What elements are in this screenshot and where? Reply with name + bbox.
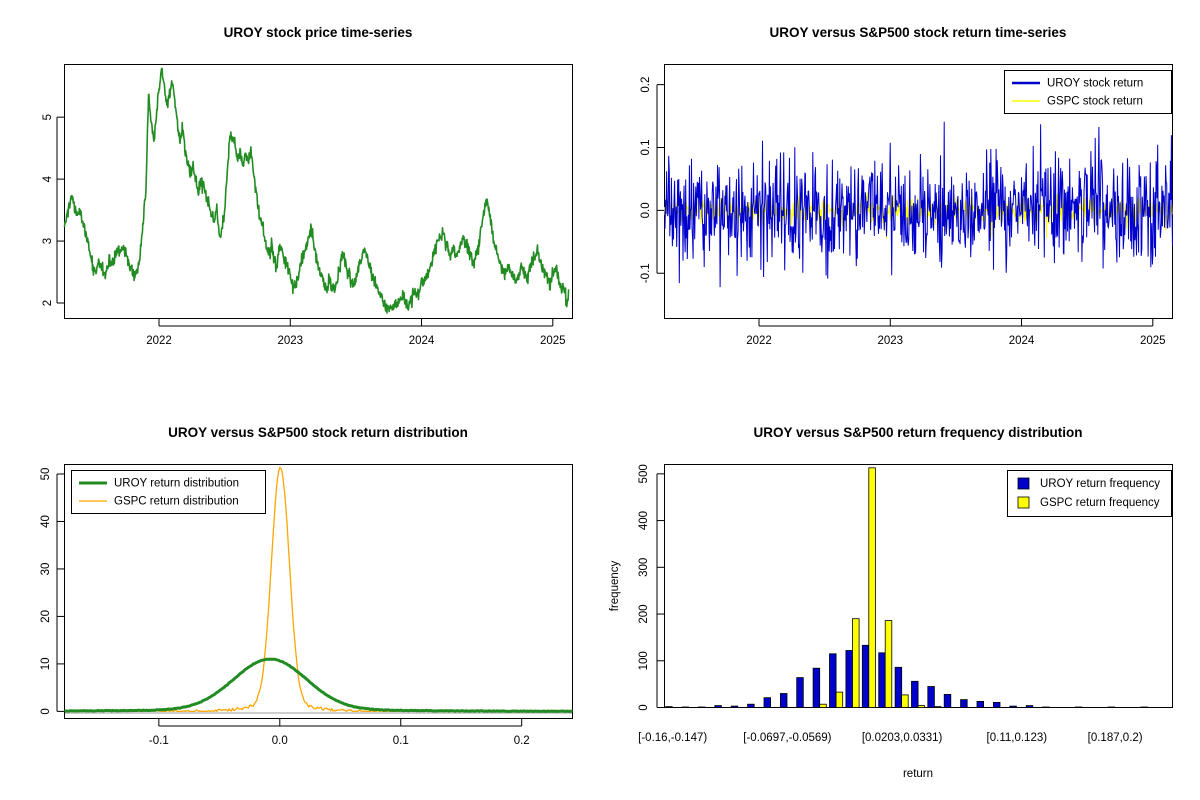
legend-label-gspc-return-distribution: GSPC return distribution: [114, 496, 239, 508]
uroy-density-series: [65, 659, 573, 711]
legend-swatch-gspc-return-frequency: [1018, 497, 1029, 508]
legend-label-gspc-return-frequency: GSPC return frequency: [1040, 497, 1160, 509]
histogram-bar: [682, 707, 689, 708]
x-tick-label: [-0.0697,-0.0569): [743, 732, 831, 744]
plot-area: [65, 65, 573, 319]
legend-label-uroy-return-distribution: UROY return distribution: [114, 478, 239, 490]
histogram-bar: [993, 702, 1000, 707]
legend: UROY return frequency GSPC return freque…: [1008, 471, 1172, 517]
y-tick-label: 0.0: [640, 202, 652, 218]
y-tick-label: -0.1: [640, 263, 652, 283]
x-tick-label: [0.0203,0.0331): [862, 732, 943, 744]
price-line-series: [65, 69, 569, 314]
histogram-bar: [944, 694, 951, 707]
x-tick-label: 0.0: [272, 735, 288, 747]
histogram-bar: [885, 621, 892, 708]
y-axis: 2345: [42, 114, 64, 306]
uroy-return-series: [665, 122, 1173, 287]
histogram-bar: [715, 706, 722, 708]
x-tick-label: 2023: [277, 335, 303, 347]
x-tick-label: 2025: [540, 335, 566, 347]
panel-return-density: UROY versus S&P500 stock return distribu…: [0, 400, 600, 800]
histogram-bar: [928, 687, 935, 708]
y-tick-label: 20: [40, 610, 52, 623]
histogram-bar: [977, 701, 984, 707]
histogram-bar: [1026, 706, 1033, 708]
histogram-bar: [666, 707, 673, 708]
return-timeseries-svg: UROY versus S&P500 stock return time-ser…: [600, 0, 1200, 400]
legend-label-uroy-return-frequency: UROY return frequency: [1040, 478, 1160, 490]
x-tick-label: 2025: [1140, 335, 1166, 347]
histogram-bar: [846, 651, 853, 708]
histogram-bar: [731, 706, 738, 707]
histogram-bar: [820, 704, 827, 707]
histogram-bar: [836, 692, 843, 707]
x-tick-label: [-0.16,-0.147): [638, 732, 707, 744]
histogram-bar: [1043, 707, 1050, 708]
legend-label-uroy-stock-return: UROY stock return: [1047, 78, 1143, 90]
panel-title: UROY versus S&P500 stock return time-ser…: [770, 25, 1067, 40]
histogram-bar: [698, 707, 705, 708]
price-timeseries-svg: UROY stock price time-series 2345 202220…: [0, 0, 600, 400]
histogram-bar: [912, 681, 919, 707]
y-tick-label: 100: [638, 651, 650, 670]
y-tick-label: 400: [638, 511, 650, 530]
x-tick-label: 2022: [146, 335, 172, 347]
panel-title: UROY stock price time-series: [224, 25, 413, 40]
y-axis: 01020304050: [40, 468, 64, 715]
histogram-bar: [902, 695, 909, 708]
histogram-bar: [853, 619, 860, 708]
histogram-bar: [895, 667, 902, 707]
x-tick-label: 2024: [409, 335, 435, 347]
y-tick-label: 40: [40, 515, 52, 528]
histogram-bar: [1108, 707, 1115, 708]
legend-swatch-uroy-return-frequency: [1018, 478, 1029, 489]
x-tick-label: 2022: [746, 335, 772, 347]
histogram-bar: [1141, 707, 1148, 708]
x-axis: -0.10.00.10.2: [149, 719, 530, 747]
y-tick-label: 300: [638, 558, 650, 577]
x-tick-label: [0.11,0.123): [987, 732, 1048, 744]
return-histogram-svg: UROY versus S&P500 return frequency dist…: [600, 400, 1200, 800]
histogram-bar: [748, 704, 755, 707]
x-axis: 2022202320242025: [746, 319, 1165, 347]
y-tick-label: 200: [638, 604, 650, 623]
histogram-bar: [797, 678, 804, 708]
y-tick-label: 0: [638, 704, 650, 710]
histogram-bar: [934, 707, 941, 708]
histogram-bar: [780, 694, 787, 708]
legend: UROY return distribution GSPC return dis…: [72, 471, 266, 514]
histogram-bar: [862, 645, 869, 707]
x-tick-label: -0.1: [149, 735, 169, 747]
x-tick-label: 0.2: [514, 735, 530, 747]
histogram-bar: [1075, 707, 1082, 708]
histogram-bar: [879, 653, 886, 708]
y-tick-label: 5: [42, 114, 54, 120]
y-tick-label: 0: [40, 708, 52, 714]
panel-title: UROY versus S&P500 stock return distribu…: [168, 425, 468, 440]
y-tick-label: 0.2: [640, 77, 652, 93]
histogram-bar: [813, 668, 820, 707]
return-density-svg: UROY versus S&P500 stock return distribu…: [0, 400, 600, 800]
x-axis: 2022202320242025: [146, 319, 565, 347]
x-tick-label: 2023: [877, 335, 903, 347]
x-axis: [-0.16,-0.147)[-0.0697,-0.0569)[0.0203,0…: [638, 732, 1143, 744]
y-tick-label: 500: [638, 464, 650, 483]
histogram-bar: [830, 654, 837, 708]
y-tick-label: 10: [40, 658, 52, 671]
y-tick-label: 30: [40, 563, 52, 576]
y-tick-label: 50: [40, 468, 52, 481]
figure-panel-grid: UROY stock price time-series 2345 202220…: [0, 0, 1200, 800]
panel-return-timeseries: UROY versus S&P500 stock return time-ser…: [600, 0, 1200, 400]
x-tick-label: [0.187,0.2): [1088, 732, 1143, 744]
panel-title: UROY versus S&P500 return frequency dist…: [753, 425, 1082, 440]
histogram-bar: [869, 468, 876, 708]
histogram-bar: [764, 698, 771, 708]
y-tick-label: 0.1: [640, 139, 652, 155]
x-tick-label: 2024: [1009, 335, 1035, 347]
panel-return-histogram: UROY versus S&P500 return frequency dist…: [600, 400, 1200, 800]
plot-box: [65, 65, 573, 319]
x-axis-label: return: [903, 768, 933, 780]
y-tick-label: 4: [42, 175, 54, 182]
x-tick-label: 0.1: [393, 735, 409, 747]
histogram-bar: [961, 700, 968, 708]
y-axis-label: frequency: [609, 561, 621, 612]
y-tick-label: 2: [42, 300, 54, 306]
y-axis: 0100200300400500: [638, 464, 664, 710]
legend-label-gspc-stock-return: GSPC stock return: [1047, 96, 1143, 108]
legend: UROY stock return GSPC stock return: [1005, 71, 1172, 114]
panel-price-timeseries: UROY stock price time-series 2345 202220…: [0, 0, 600, 400]
y-tick-label: 3: [42, 238, 54, 244]
y-axis: -0.10.00.10.2: [640, 77, 664, 284]
histogram-bar: [1010, 706, 1017, 707]
histogram-bar: [918, 706, 925, 708]
